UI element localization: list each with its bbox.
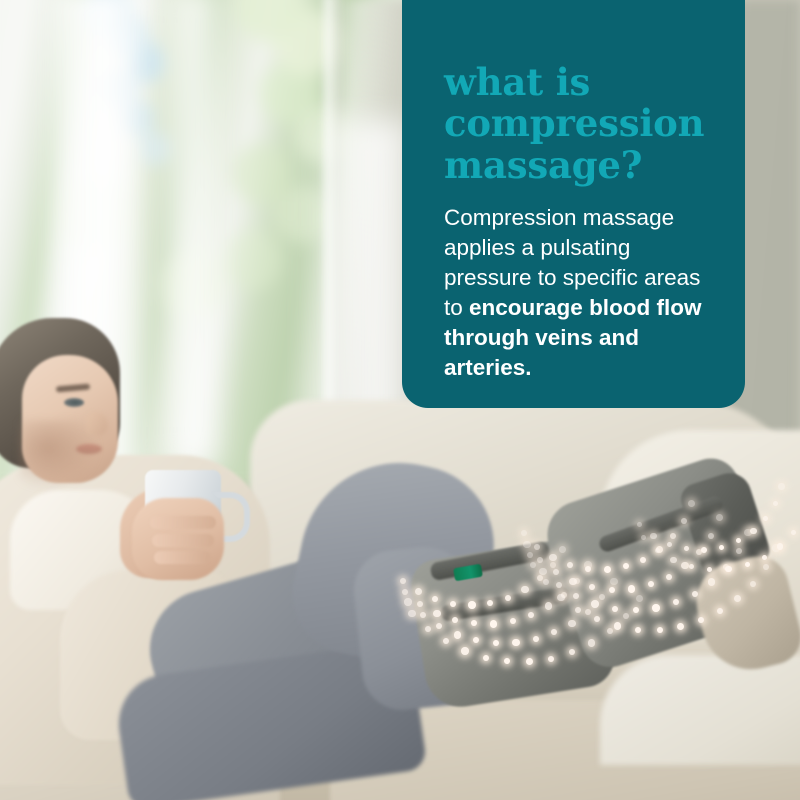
woman-eye (64, 398, 84, 407)
woman-lips (76, 444, 102, 454)
finger (154, 551, 210, 564)
card-body: Compression massage applies a pulsating … (444, 203, 706, 383)
card-body-emphasis: encourage blood flow through veins and a… (444, 295, 702, 380)
info-card: what is compression massage? Compression… (402, 0, 745, 408)
woman-nose (86, 412, 108, 436)
finger (152, 534, 214, 547)
finger (150, 516, 216, 529)
infographic-canvas: what is compression massage? Compression… (0, 0, 800, 800)
card-heading: what is compression massage? (444, 62, 711, 186)
curtain-middle (150, 0, 230, 460)
sofa-blanket (600, 655, 800, 765)
